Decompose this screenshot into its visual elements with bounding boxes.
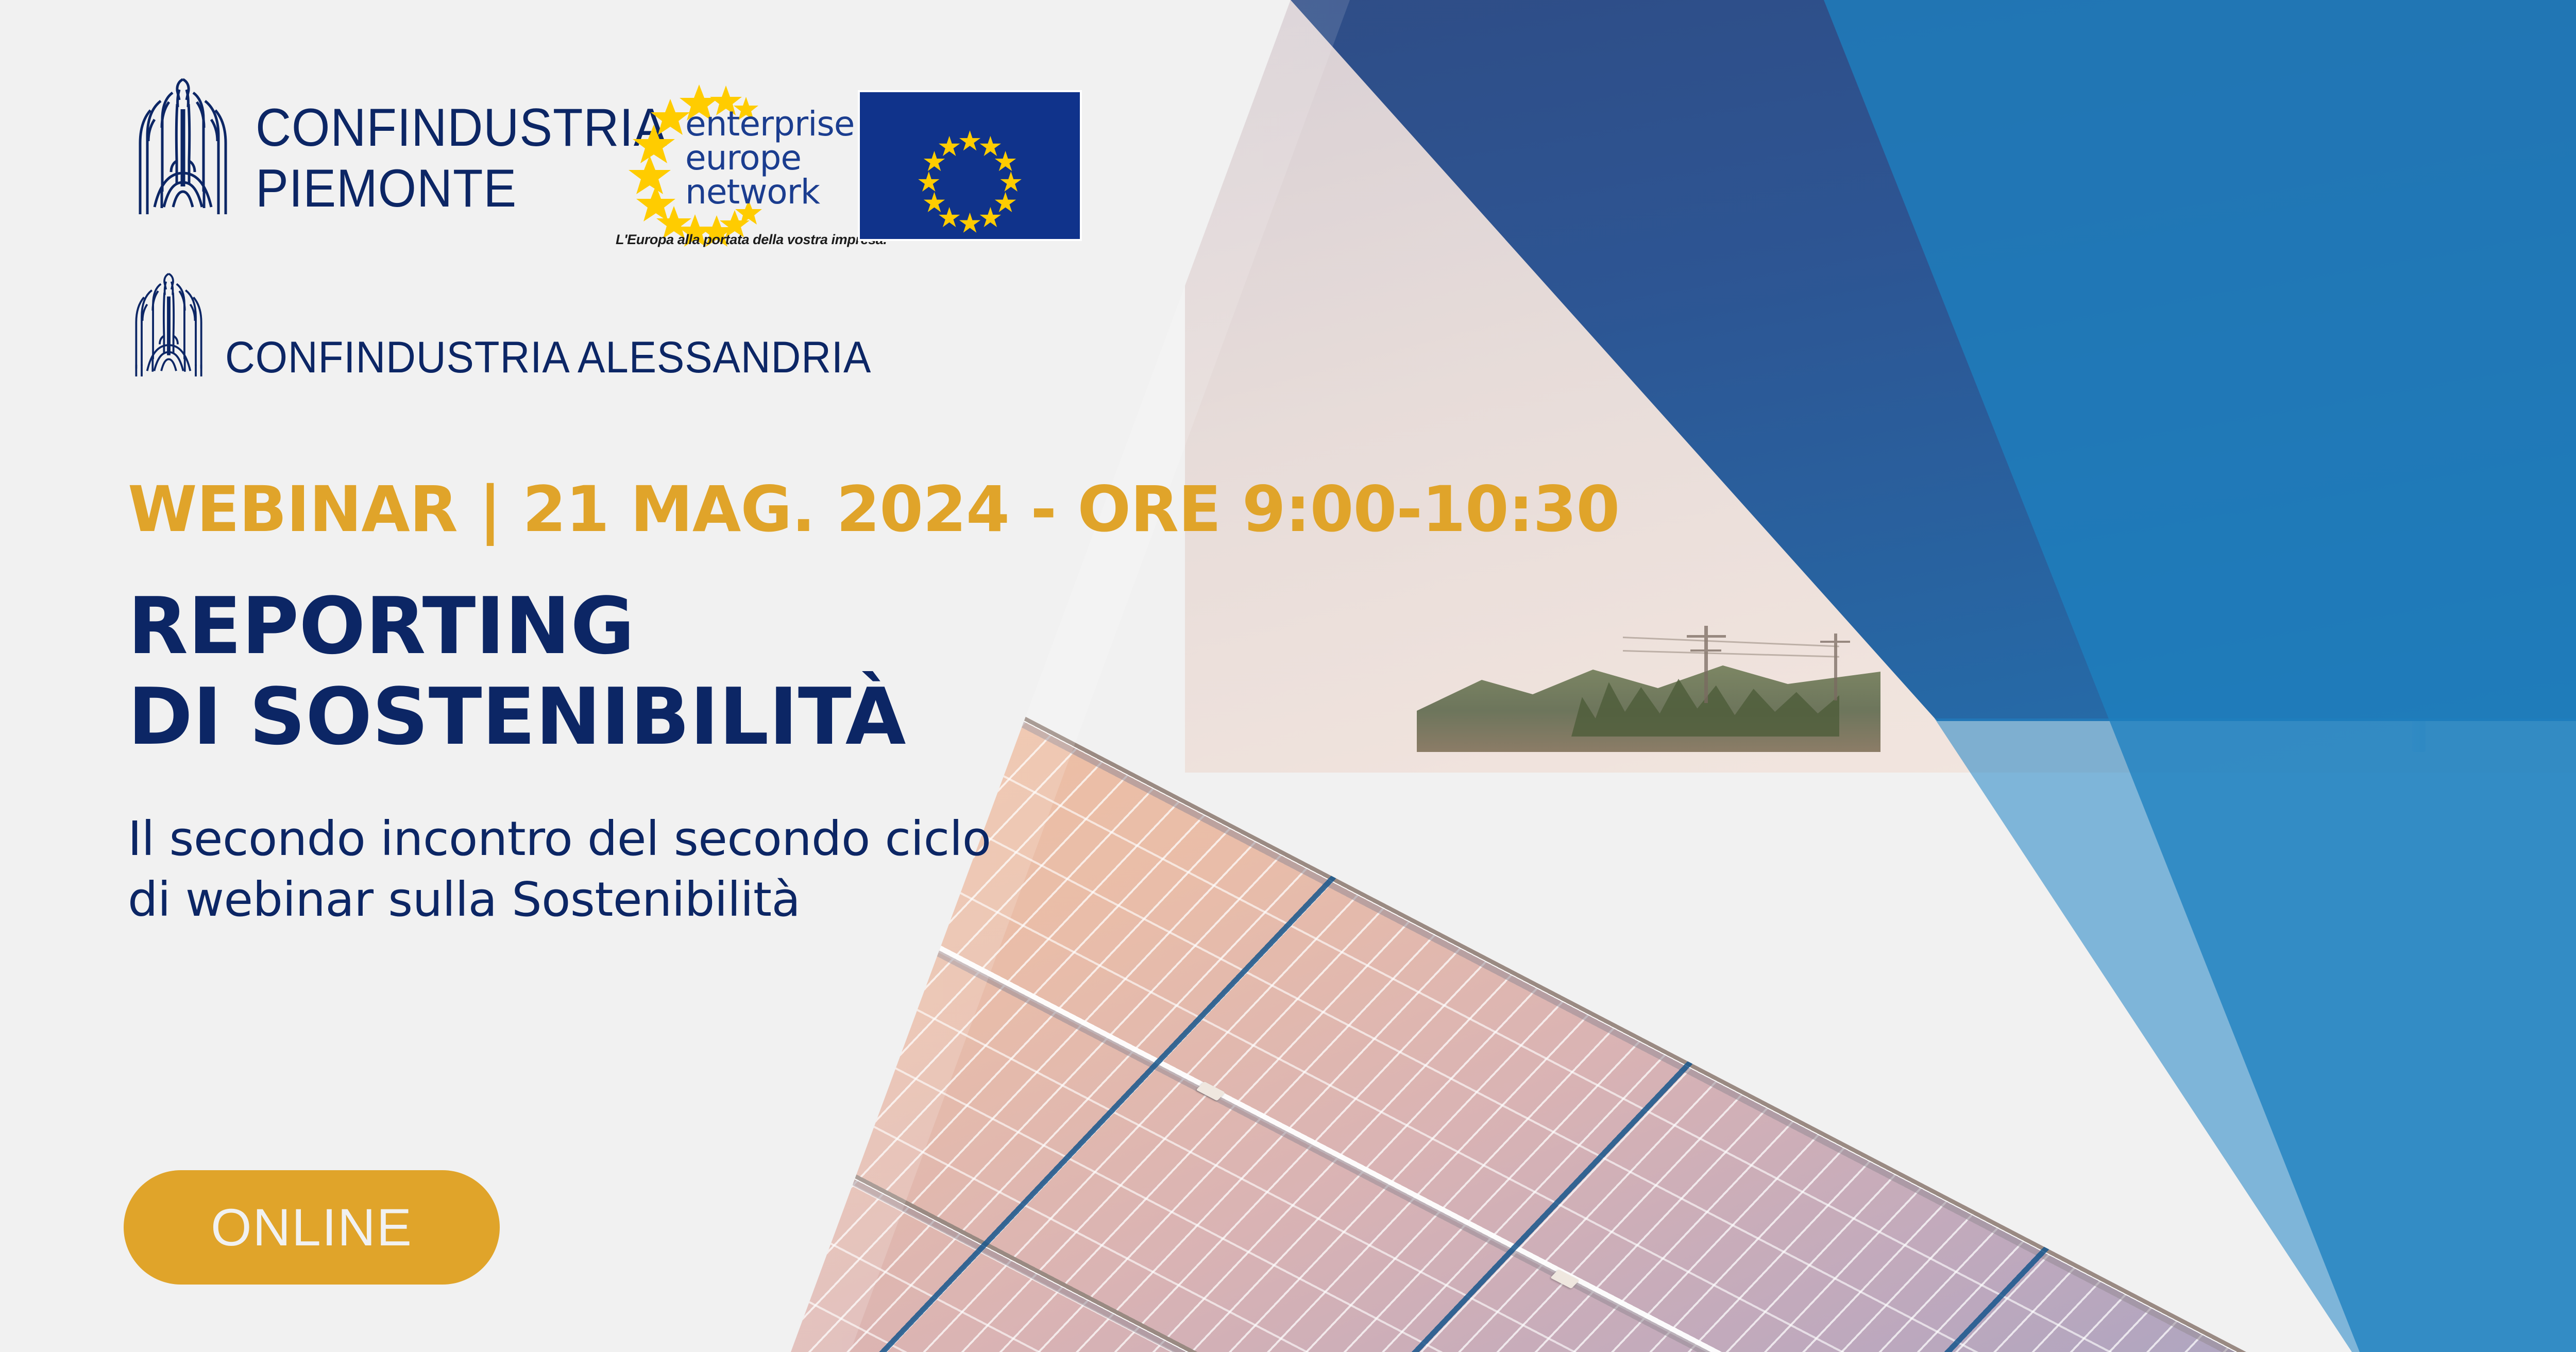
utility-pole	[1704, 626, 1708, 703]
een-word-network: network	[685, 175, 854, 209]
page-title: REPORTING DI SOSTENIBILITÀ	[128, 581, 906, 763]
subtitle-line-1: Il secondo incontro del secondo ciclo	[128, 809, 991, 869]
utility-pole	[1834, 634, 1837, 700]
een-word-europe: europe	[685, 141, 854, 175]
wordmark-line-1: CONFINDUSTRIA	[256, 99, 667, 157]
confindustria-alessandria-wordmark: CONFINDUSTRIA ALESSANDRIA	[225, 332, 871, 383]
eu-flag-stars-icon	[860, 92, 1080, 239]
title-line-1: REPORTING	[128, 581, 906, 672]
event-subtitle: Il secondo incontro del secondo ciclo di…	[128, 809, 991, 930]
content-column: CONFINDUSTRIA PIEMONTE	[0, 0, 1288, 1352]
wordmark-line-2: PIEMONTE	[256, 160, 667, 217]
title-line-2: DI SOSTENIBILITÀ	[128, 672, 906, 762]
subtitle-line-2: di webinar sulla Sostenibilità	[128, 869, 991, 930]
event-promo-banner: CONFINDUSTRIA PIEMONTE	[0, 0, 2576, 1352]
een-tagline: L'Europa alla portata della vostra impre…	[616, 232, 837, 248]
confindustria-eagle-icon	[124, 72, 242, 227]
een-wordmark: enterprise europe network	[685, 107, 854, 209]
een-word-enterprise: enterprise	[685, 107, 854, 141]
event-kicker: WEBINAR | 21 MAG. 2024 - ORE 9:00-10:30	[128, 473, 1619, 546]
european-union-flag	[858, 90, 1082, 241]
confindustria-piemonte-wordmark: CONFINDUSTRIA PIEMONTE	[256, 99, 667, 218]
confindustria-eagle-icon	[124, 268, 214, 386]
online-badge: ONLINE	[124, 1170, 500, 1285]
enterprise-europe-network-logo: enterprise europe network L'Europa alla …	[616, 77, 832, 252]
confindustria-alessandria-logo: CONFINDUSTRIA ALESSANDRIA	[124, 268, 920, 386]
